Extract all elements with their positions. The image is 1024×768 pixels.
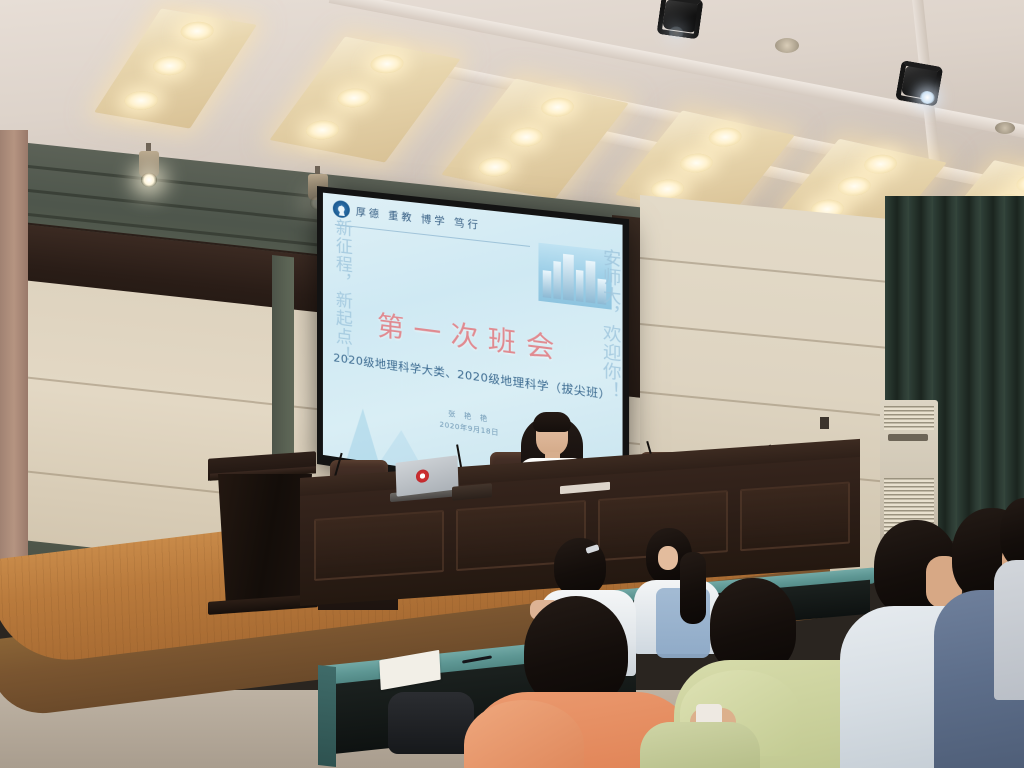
lecture-hall-photo: 厚德 重教 博学 笃行 新征程，新起点！ 安师大，欢迎你！ 第一次班会 2020… [0, 0, 1024, 768]
slide-header: 厚德 重教 博学 笃行 [333, 200, 481, 234]
student-desk-side [318, 665, 336, 767]
wall-switch-plate[interactable] [820, 417, 829, 429]
recessed-light-panel [94, 8, 257, 128]
presenter-fringe [533, 412, 571, 432]
slide-left-vertical-text: 新征程，新起点！ [329, 217, 350, 364]
university-seal-icon [333, 200, 350, 219]
ceiling-downlight [995, 122, 1015, 134]
recessed-light-panel [441, 78, 629, 199]
slide-right-vertical-text: 安师大，欢迎你！ [595, 247, 618, 401]
ceiling-downlight [775, 38, 799, 53]
podium-body [214, 474, 312, 602]
recessed-light-panel [269, 37, 460, 163]
wall-left-pilaster [0, 130, 28, 600]
backpack-under-desk [388, 692, 474, 754]
slide-decoration-triangle [347, 406, 379, 463]
laptop-logo-icon [416, 469, 429, 484]
